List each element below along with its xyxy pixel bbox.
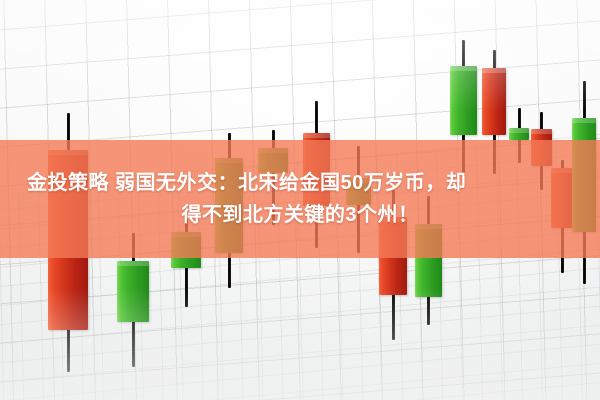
candlestick-body-highlight	[531, 129, 552, 134]
candlestick-body-highlight	[117, 261, 149, 266]
candlestick-body-up	[509, 128, 529, 140]
candlestick-body-highlight	[572, 118, 596, 123]
headline-overlay-band: 金投策略 弱国无外交：北宋给金国50万岁币，却 得不到北方关键的3个州！	[0, 140, 600, 258]
candlestick-body-highlight	[303, 133, 330, 138]
candlestick-body-down	[482, 68, 506, 135]
candlestick-body-up	[450, 66, 477, 135]
candlestick-body-up	[117, 261, 149, 322]
candlestick-banner: 金投策略 弱国无外交：北宋给金国50万岁币，却 得不到北方关键的3个州！	[0, 0, 600, 400]
candlestick-body-highlight	[482, 68, 506, 73]
headline-line-2: 得不到北方关键的3个州！	[20, 199, 580, 231]
candlestick-body-highlight	[450, 66, 477, 71]
headline-line-1: 金投策略 弱国无外交：北宋给金国50万岁币，却	[13, 167, 587, 199]
candlestick-body-highlight	[509, 128, 529, 133]
